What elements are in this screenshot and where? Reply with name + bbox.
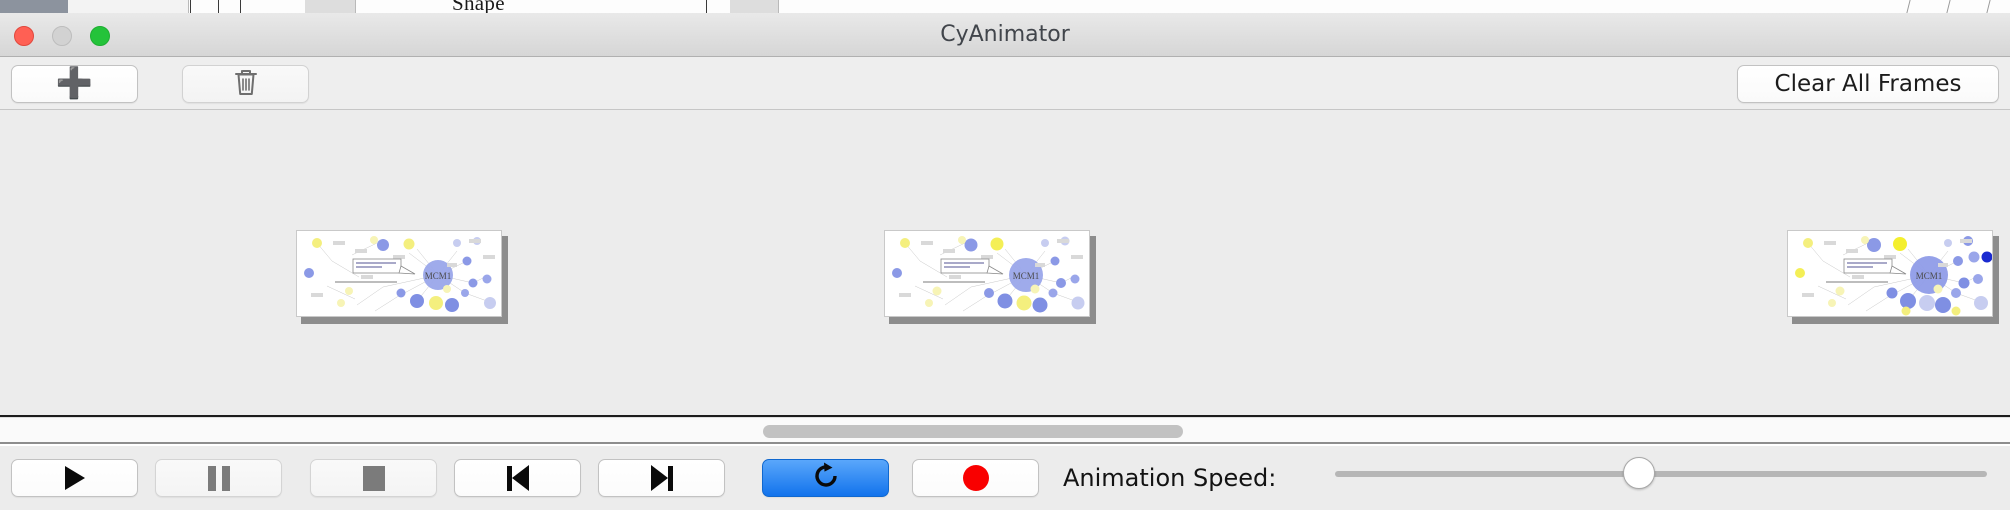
thumbnail-sheet: MCM1 <box>1787 230 1993 317</box>
thumbnail-sheet: MCM1 <box>296 230 502 317</box>
window-title: CyAnimator <box>0 13 2010 57</box>
toolbar: ➕ Clear All Frames <box>0 57 2010 110</box>
thumbnail-hub-label: MCM1 <box>1013 271 1040 281</box>
bg-shape-label: Shape <box>452 0 505 14</box>
pause-button[interactable] <box>155 459 282 497</box>
play-icon <box>65 466 85 490</box>
record-icon <box>963 465 989 491</box>
bg-tick <box>706 0 707 13</box>
thumbnail-hub-label: MCM1 <box>425 271 452 281</box>
thumbnail-sheet: MCM1 <box>884 230 1090 317</box>
cyanimator-window: Shape CyAnimator ➕ Clear All Fr <box>0 0 2010 510</box>
animation-speed-slider[interactable] <box>1335 471 1987 477</box>
bg-tick <box>218 0 219 13</box>
bg-bracket <box>1946 0 1970 13</box>
animation-speed-label: Animation Speed: <box>1063 446 1276 510</box>
playback-controls: Animation Speed: <box>0 446 2010 510</box>
scrollbar-thumb[interactable] <box>763 425 1183 438</box>
bg-segment <box>68 0 145 13</box>
bg-segment <box>305 0 356 13</box>
stop-icon <box>363 466 385 491</box>
bg-segment <box>144 0 189 13</box>
bg-tick <box>240 0 241 13</box>
background-window-strip: Shape <box>0 0 2010 14</box>
timeline-frame-thumbnail[interactable]: MCM1 <box>884 230 1096 322</box>
bg-bracket <box>1906 0 1930 13</box>
bg-tab-block <box>0 0 68 13</box>
clear-all-frames-button[interactable]: Clear All Frames <box>1737 65 1999 103</box>
add-frame-button[interactable]: ➕ <box>11 65 138 103</box>
loop-icon <box>811 461 841 496</box>
bg-tick <box>190 0 191 13</box>
plus-icon: ➕ <box>56 69 93 99</box>
pause-icon <box>208 466 230 491</box>
timeline-frame-thumbnail[interactable]: MCM1 <box>1787 230 1999 322</box>
skip-back-icon <box>507 465 529 491</box>
timeline-frame-thumbnail[interactable]: MCM1 <box>296 230 508 322</box>
trash-icon <box>233 67 259 102</box>
play-button[interactable] <box>11 459 138 497</box>
bg-bracket <box>1986 0 2010 13</box>
record-button[interactable] <box>912 459 1039 497</box>
clear-all-frames-label: Clear All Frames <box>1775 71 1962 97</box>
horizontal-scrollbar[interactable] <box>0 417 2010 444</box>
slider-track[interactable] <box>1335 471 1987 477</box>
loop-button[interactable] <box>762 459 889 497</box>
bg-segment <box>730 0 779 13</box>
thumbnail-hub-label: MCM1 <box>1916 271 1943 281</box>
timeline-panel[interactable]: MCM1 <box>0 110 2010 417</box>
skip-forward-icon <box>651 465 673 491</box>
stop-button[interactable] <box>310 459 437 497</box>
slider-thumb[interactable] <box>1623 457 1655 489</box>
previous-frame-button[interactable] <box>454 459 581 497</box>
title-bar: CyAnimator <box>0 13 2010 57</box>
delete-frame-button[interactable] <box>182 65 309 103</box>
next-frame-button[interactable] <box>598 459 725 497</box>
